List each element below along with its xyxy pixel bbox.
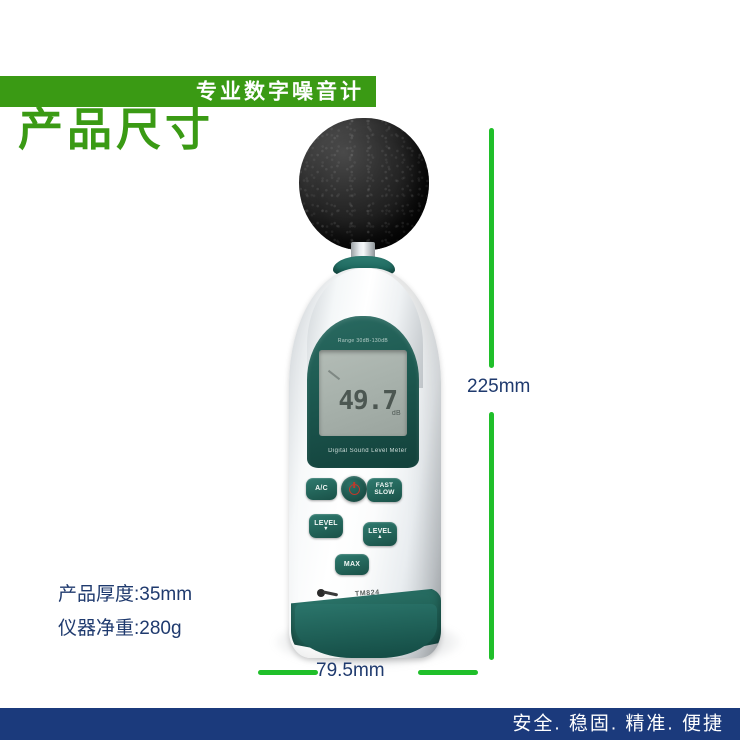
width-dimension-line-right (418, 670, 478, 675)
lcd-reading-unit: dB (392, 410, 401, 417)
height-dimension-label: 225mm (463, 374, 534, 400)
lcd-indicator-icon (328, 370, 340, 380)
microphone-icon-tail (323, 590, 338, 596)
spec-weight: 仪器净重:280g (58, 612, 192, 646)
footer-bar: 安全. 稳固. 精准. 便捷 (0, 708, 740, 740)
device-base-front (295, 604, 437, 658)
header-banner-text: 专业数字噪音计 (196, 81, 364, 102)
footer-slogan: 安全. 稳固. 精准. 便捷 (512, 715, 724, 734)
header-banner: 专业数字噪音计 (0, 76, 376, 107)
measurement-range-label: Range 30dB-130dB (307, 338, 419, 344)
ac-button[interactable]: A/C (306, 478, 337, 500)
microphone-windscreen (299, 118, 429, 250)
power-icon (349, 484, 360, 495)
lcd-reading-value: 49.7 (319, 388, 397, 414)
microphone-icon (317, 588, 339, 598)
device-keypad: A/C FAST SLOW LEVEL ▼ LEVEL (289, 470, 441, 600)
max-button-label: MAX (344, 561, 360, 568)
level-down-button[interactable]: LEVEL ▼ (309, 514, 343, 538)
lcd-display: 49.7 dB (319, 350, 407, 436)
height-dimension-line-top (489, 128, 494, 368)
max-button[interactable]: MAX (335, 554, 369, 575)
chevron-up-icon: ▲ (368, 535, 392, 541)
fast-slow-button[interactable]: FAST SLOW (367, 478, 402, 502)
device-brand-label: Digital Sound Level Meter (255, 448, 480, 454)
sound-level-meter-product-image: Range 30dB-130dB 49.7 dB Digital Sound L… (255, 118, 480, 663)
height-dimension-line-bottom (489, 412, 494, 660)
chevron-down-icon: ▼ (314, 527, 338, 533)
ac-button-label: A/C (315, 485, 328, 492)
width-dimension-line-left (258, 670, 318, 675)
page-title: 产品尺寸 (18, 105, 214, 155)
product-dimension-infographic: 专业数字噪音计 产品尺寸 Range 30dB-130dB 49.7 dB Di… (0, 0, 740, 740)
spec-thickness: 产品厚度:35mm (58, 578, 192, 612)
width-dimension-label: 79.5mm (316, 660, 385, 682)
specification-list: 产品厚度:35mm 仪器净重:280g (58, 578, 192, 646)
fast-slow-button-label-line2: SLOW (374, 490, 394, 497)
power-button[interactable] (341, 476, 367, 502)
level-up-button[interactable]: LEVEL ▲ (363, 522, 397, 546)
